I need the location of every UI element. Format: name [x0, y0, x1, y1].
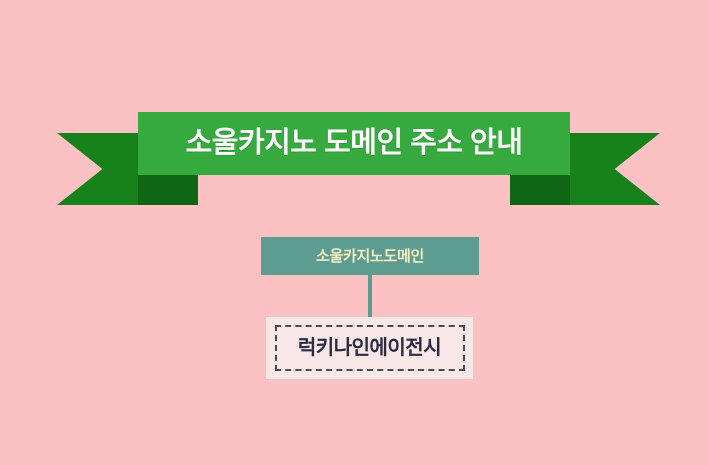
ribbon-fold-left-icon	[138, 175, 198, 205]
ribbon-fold-right-icon	[510, 175, 570, 205]
ribbon-body: 소울카지노 도메인 주소 안내	[138, 112, 570, 175]
diagram-connector-line	[368, 275, 372, 320]
page-canvas: 소울카지노 도메인 주소 안내 소울카지노도메인 럭키나인에이전시	[0, 0, 708, 465]
diagram-node-target-border: 럭키나인에이전시	[275, 325, 465, 371]
banner-title: 소울카지노 도메인 주소 안내	[186, 129, 523, 158]
diagram-node-source: 소울카지노도메인	[261, 237, 479, 275]
diagram-node-target: 럭키나인에이전시	[266, 317, 473, 379]
diagram-node-target-label: 럭키나인에이전시	[298, 338, 441, 358]
diagram-node-source-label: 소울카지노도메인	[316, 249, 424, 264]
ribbon-banner: 소울카지노 도메인 주소 안내	[0, 100, 708, 205]
